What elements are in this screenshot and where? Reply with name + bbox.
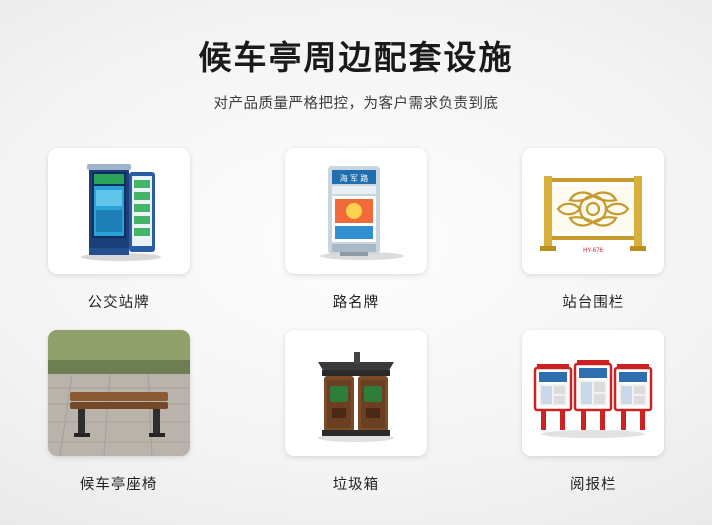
product-card-trash-bin[interactable]: 垃圾箱 [237, 312, 474, 494]
product-caption: 阅报栏 [570, 473, 617, 494]
product-caption: 公交站牌 [88, 291, 150, 312]
trash-bin-icon [296, 338, 416, 448]
product-card-reading-board[interactable]: 阅报栏 [475, 312, 712, 494]
waiting-bench-icon [48, 330, 190, 456]
product-caption: 路名牌 [333, 291, 380, 312]
product-card-bus-stop-sign[interactable]: 公交站牌 [0, 148, 237, 312]
svg-text:海 军 路: 海 军 路 [340, 173, 368, 183]
product-thumbnail[interactable] [522, 330, 664, 456]
product-card-waiting-bench[interactable]: 候车亭座椅 [0, 312, 237, 494]
product-thumbnail[interactable] [48, 330, 190, 456]
page-root: 候车亭周边配套设施 对产品质量严格把控，为客户需求负责到底 [0, 0, 712, 525]
product-card-platform-fence[interactable]: HY-676 站台围栏 [475, 148, 712, 312]
street-name-sign-icon: 海 军 路 [296, 156, 416, 266]
bus-stop-sign-icon [59, 156, 179, 266]
page-subtitle: 对产品质量严格把控，为客户需求负责到底 [0, 92, 712, 113]
product-caption: 候车亭座椅 [80, 473, 158, 494]
reading-board-icon [527, 338, 659, 448]
product-grid: 公交站牌 海 军 路 [0, 148, 712, 494]
page-title: 候车亭周边配套设施 [0, 38, 712, 78]
product-thumbnail[interactable] [285, 330, 427, 456]
svg-text:HY-676: HY-676 [583, 248, 603, 254]
page-header: 候车亭周边配套设施 对产品质量严格把控，为客户需求负责到底 [0, 0, 712, 113]
product-thumbnail[interactable]: HY-676 [522, 148, 664, 274]
product-thumbnail[interactable] [48, 148, 190, 274]
product-card-street-name-sign[interactable]: 海 军 路 路名牌 [237, 148, 474, 312]
product-caption: 站台围栏 [562, 291, 624, 312]
product-thumbnail[interactable]: 海 军 路 [285, 148, 427, 274]
product-caption: 垃圾箱 [333, 473, 380, 494]
platform-fence-icon: HY-676 [530, 156, 656, 266]
